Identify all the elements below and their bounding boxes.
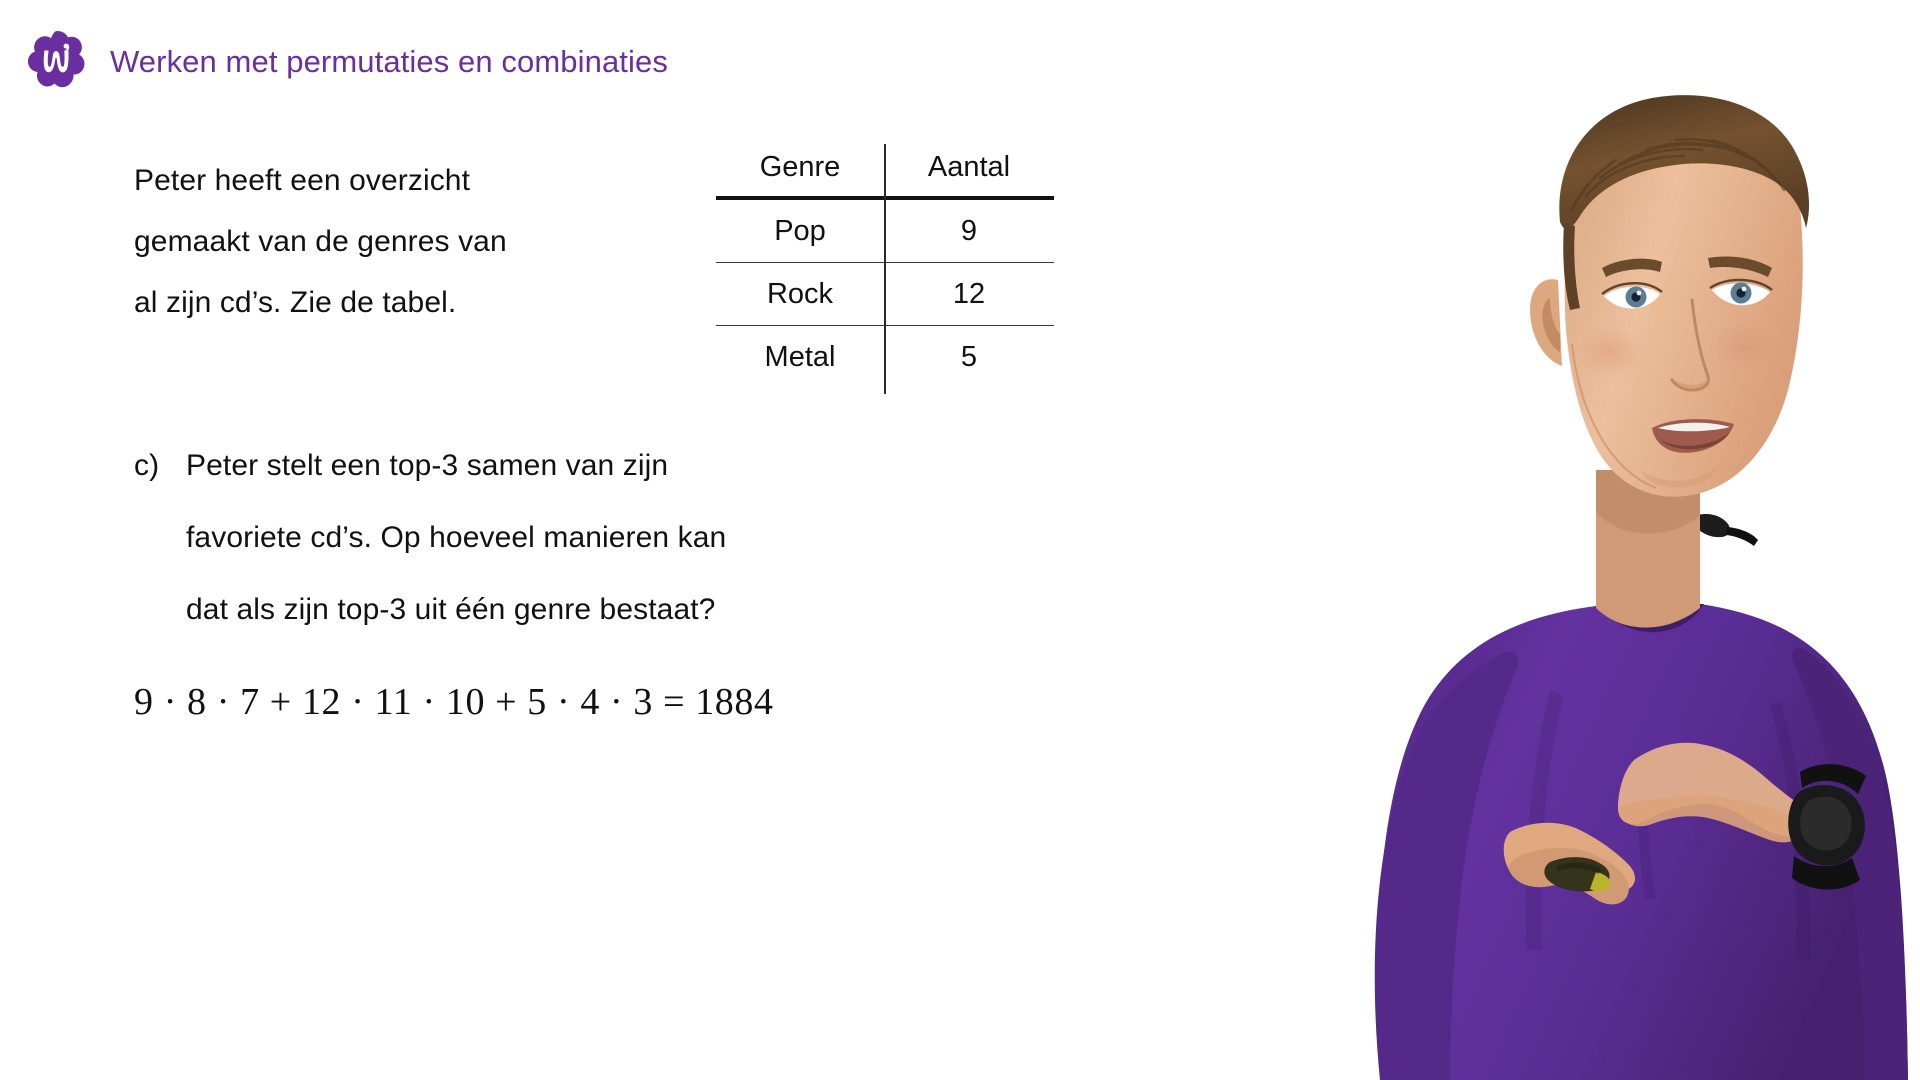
question-marker: c) [134, 430, 186, 646]
question-line-1: Peter stelt een top-3 samen van zijn [186, 430, 726, 502]
lapel-microphone [1694, 514, 1758, 546]
table-header-aantal: Aantal [884, 138, 1054, 198]
presenter-hands [1504, 743, 1866, 905]
presenter-eye-left [1602, 283, 1662, 308]
slide-canvas: Werken met permutaties en combinaties Pe… [0, 0, 1920, 1080]
answer-formula: 9 · 8 · 7 + 12 · 11 · 10 + 5 · 4 · 3 = 1… [134, 680, 774, 724]
page-title: Werken met permutaties en combinaties [110, 46, 668, 77]
table-cell-aantal: 9 [884, 198, 1054, 263]
question-line-3: dat als zijn top-3 uit één genre bestaat… [186, 574, 726, 646]
table-cell-aantal: 5 [884, 326, 1054, 389]
presenter-neck [1596, 470, 1700, 628]
intro-line-1: Peter heeft een overzicht [134, 150, 654, 211]
smartwatch [1788, 764, 1866, 889]
wiskunde-academie-logo-icon [26, 30, 88, 92]
slide-header: Werken met permutaties en combinaties [26, 30, 668, 92]
presenter-video-overlay [1080, 0, 1920, 1080]
presenter-eye-right [1710, 280, 1772, 305]
marker-pen [1544, 857, 1610, 891]
intro-line-3: al zijn cd’s. Zie de tabel. [134, 272, 654, 333]
question-block: c) Peter stelt een top-3 samen van zijn … [134, 430, 726, 646]
presenter-head [1530, 95, 1809, 497]
intro-line-2: gemaakt van de genres van [134, 211, 654, 272]
table-cell-genre: Metal [716, 326, 884, 389]
genre-aantal-table: Genre Aantal Pop 9 Rock 12 Metal 5 [716, 138, 1054, 390]
table-header-genre: Genre [716, 138, 884, 198]
presenter-mouth [1652, 419, 1734, 453]
presenter-sweater [1375, 514, 1908, 1080]
table-column-divider [884, 144, 886, 394]
question-line-2: favoriete cd’s. Op hoeveel manieren kan [186, 502, 726, 574]
table-cell-aantal: 12 [884, 263, 1054, 326]
table-cell-genre: Pop [716, 198, 884, 263]
table-cell-genre: Rock [716, 263, 884, 326]
